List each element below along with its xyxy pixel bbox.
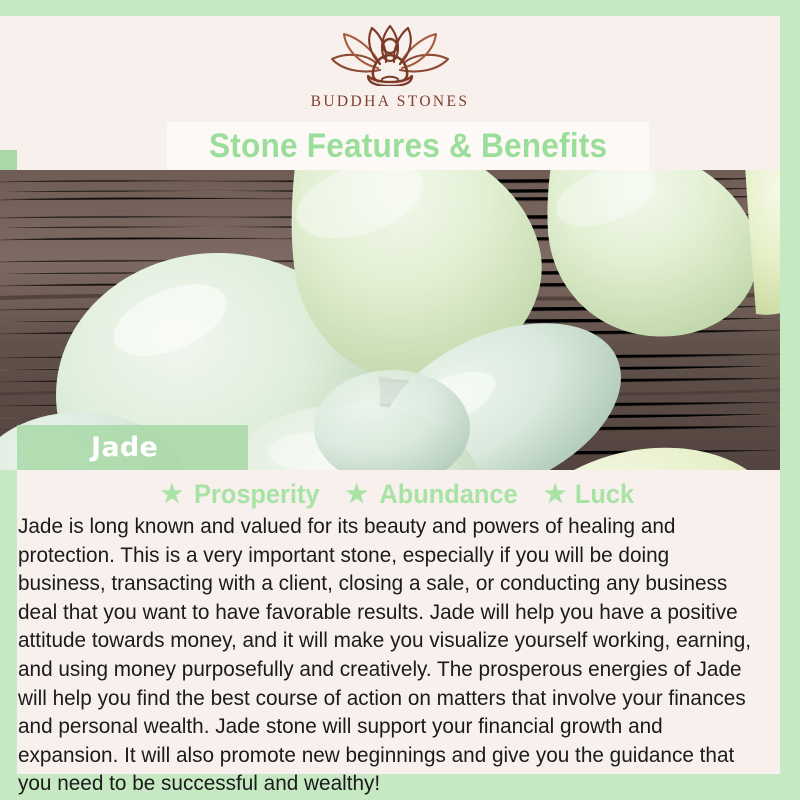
- benefit-item-prosperity: ★ Prosperity: [161, 479, 324, 510]
- benefit-item-abundance: ★ Abundance: [346, 479, 522, 510]
- infographic-page: BUDDHA STONES Stone Features & Benefits: [0, 0, 800, 800]
- benefit-item-luck: ★ Luck: [544, 479, 636, 510]
- brand-wordmark: BUDDHA STONES: [311, 93, 470, 111]
- brand-logo: BUDDHA STONES: [0, 24, 780, 111]
- benefit-label: Prosperity: [194, 479, 320, 510]
- benefit-label: Luck: [575, 479, 634, 510]
- stone-name-label: Jade: [91, 432, 158, 463]
- star-icon: ★: [161, 482, 183, 507]
- star-icon: ★: [346, 482, 368, 507]
- green-right-accent-band: [780, 0, 800, 800]
- lotus-meditation-icon: [310, 24, 470, 86]
- benefit-label: Abundance: [379, 479, 517, 510]
- benefits-row: ★ Prosperity ★ Abundance ★ Luck: [17, 479, 780, 510]
- page-title: Stone Features & Benefits: [209, 127, 607, 166]
- star-icon: ★: [544, 482, 566, 507]
- hero-caption-strip: Jade: [17, 425, 248, 470]
- title-banner: Stone Features & Benefits: [167, 122, 649, 170]
- green-left-accent-band-lower: [0, 430, 17, 800]
- description-paragraph: Jade is long known and valued for its be…: [18, 512, 751, 798]
- green-top-accent-band: [0, 0, 800, 16]
